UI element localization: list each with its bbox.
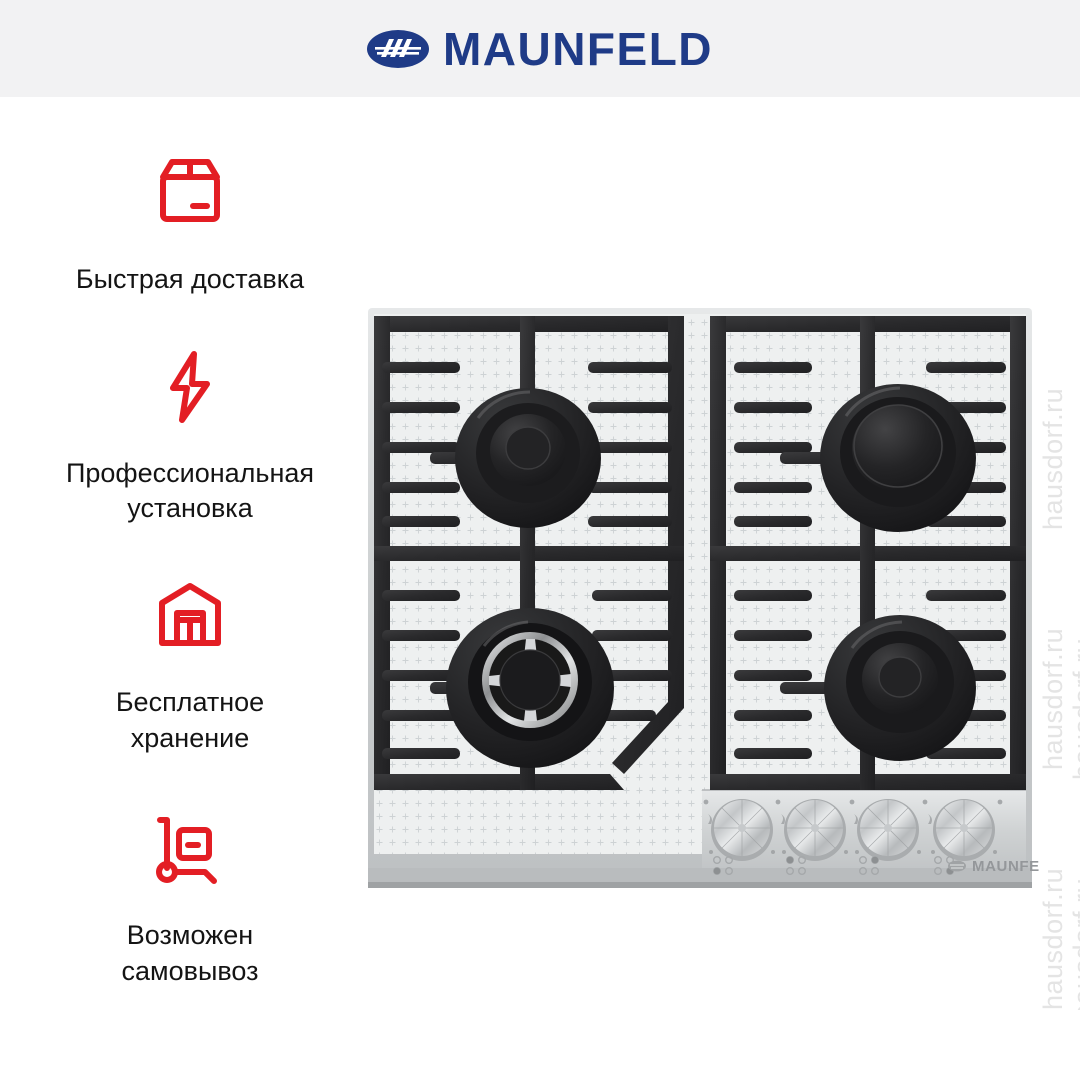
hand-truck-icon xyxy=(147,806,233,892)
brand-text: MAUNFELD xyxy=(443,26,713,72)
feature-label-installation: Профессиональная установка xyxy=(66,456,314,527)
feature-item-pickup: Возможен самовывоз xyxy=(20,806,360,989)
maunfeld-emblem-icon xyxy=(367,30,429,68)
panel-brand-text: MAUNFELD xyxy=(972,858,1040,875)
cooktop-illustration: MAUNFELD xyxy=(360,290,1040,910)
watermark-text: hausdorf.ru xyxy=(1068,878,1080,1010)
knob-burner-4[interactable] xyxy=(933,799,995,861)
watermark-text: hausdorf.ru xyxy=(1038,628,1069,770)
header-bar: MAUNFELD xyxy=(0,0,1080,97)
burner-rear-right xyxy=(820,384,976,532)
burner-front-right xyxy=(824,615,976,761)
feature-list: Быстрая доставка Профессиональная устано… xyxy=(20,150,360,989)
knob-burner-1[interactable] xyxy=(711,799,773,861)
watermark-text: hausdorf.ru xyxy=(1038,868,1069,1010)
watermark-text: hausdorf.ru xyxy=(1038,388,1069,530)
warehouse-icon xyxy=(147,573,233,659)
feature-item-delivery: Быстрая доставка xyxy=(20,150,360,298)
feature-item-storage: Бесплатное хранение xyxy=(20,573,360,756)
maunfeld-logo: MAUNFELD xyxy=(367,26,713,72)
burner-front-left xyxy=(446,608,614,768)
lightning-icon xyxy=(147,344,233,430)
feature-label-delivery: Быстрая доставка xyxy=(76,262,304,298)
burner-rear-left xyxy=(455,388,601,528)
feature-label-pickup: Возможен самовывоз xyxy=(122,918,259,989)
feature-item-installation: Профессиональная установка xyxy=(20,344,360,527)
knob-burner-3[interactable] xyxy=(857,799,919,861)
knob-burner-2[interactable] xyxy=(784,799,846,861)
watermark-text: hausdorf.ru xyxy=(1068,638,1080,780)
product-image-gas-cooktop: MAUNFELD xyxy=(360,290,1040,910)
feature-label-storage: Бесплатное хранение xyxy=(116,685,264,756)
box-icon xyxy=(147,150,233,236)
